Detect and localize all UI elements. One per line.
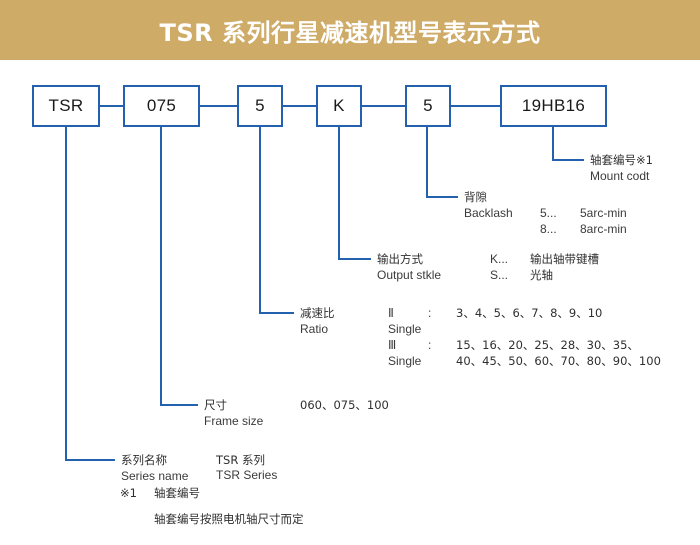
footnote-mark: ※1 [120, 480, 154, 506]
backlash-values: 5... 5arc-min 8... 8arc-min [540, 205, 627, 237]
annotation-output-style: 输出方式 Output stkle [377, 251, 441, 283]
series-name-label-cn: 系列名称 [121, 452, 188, 468]
leader-frame-size [161, 127, 198, 405]
footnote: ※1轴套编号 轴套编号按照电机轴尺寸而定 [120, 480, 304, 532]
footnote-line-1: ※1轴套编号 [120, 480, 304, 506]
ratio-values: Ⅱ : 3、4、5、6、7、8、9、10 Single Ⅲ : 15、16、20… [388, 305, 661, 369]
backlash-key-0: 5... [540, 205, 580, 221]
ratio-sep-0: : [428, 305, 456, 321]
ratio-list-1-cont: 40、45、50、60、70、80、90、100 [456, 353, 661, 369]
ratio-value-row: Single [388, 321, 661, 337]
ratio-stage-en-0: Single [388, 321, 428, 337]
output-style-label-cn: 输出方式 [377, 251, 441, 267]
output-style-value-row: K... 输出轴带键槽 [490, 251, 599, 267]
output-style-value-1: 光轴 [530, 267, 553, 283]
backlash-value-row: 8... 8arc-min [540, 221, 627, 237]
header-band: TSR 系列行星减速机型号表示方式 [0, 0, 700, 60]
series-name-values: TSR 系列 TSR Series [216, 452, 277, 482]
code-box-mount-code[interactable]: 19HB16 [500, 85, 607, 127]
leader-mount-code [553, 127, 584, 160]
backlash-value-0: 5arc-min [580, 205, 627, 221]
series-name-value-cn: TSR 系列 [216, 452, 277, 468]
ratio-value-row: Single 40、45、50、60、70、80、90、100 [388, 353, 661, 369]
ratio-list-0: 3、4、5、6、7、8、9、10 [456, 305, 602, 321]
ratio-stage-en-1: Single [388, 353, 428, 369]
page-title: TSR 系列行星减速机型号表示方式 [160, 13, 541, 48]
model-code-diagram: TSR 075 5 K 5 19HB16 轴套编号※1 Mount codt 背… [0, 60, 700, 545]
code-box-frame-size[interactable]: 075 [123, 85, 200, 127]
leader-output-style [339, 127, 371, 259]
ratio-label-en: Ratio [300, 321, 335, 337]
frame-size-list: 060、075、100 [300, 397, 389, 413]
ratio-value-row: Ⅱ : 3、4、5、6、7、8、9、10 [388, 305, 661, 321]
ratio-stage-1: Ⅲ [388, 337, 428, 353]
code-box-ratio[interactable]: 5 [237, 85, 283, 127]
mount-code-label-en: Mount codt [590, 168, 653, 184]
ratio-label-cn: 减速比 [300, 305, 335, 321]
output-style-values: K... 输出轴带键槽 S... 光轴 [490, 251, 599, 283]
annotation-mount-code: 轴套编号※1 Mount codt [590, 152, 653, 184]
leader-ratio [260, 127, 294, 313]
output-style-value-0: 输出轴带键槽 [530, 251, 599, 267]
leader-lines [0, 60, 700, 545]
code-box-output-style[interactable]: K [316, 85, 362, 127]
output-style-label-en: Output stkle [377, 267, 441, 283]
backlash-label-en: Backlash [464, 205, 513, 221]
backlash-value-row: 5... 5arc-min [540, 205, 627, 221]
annotation-ratio: 减速比 Ratio [300, 305, 335, 337]
output-style-key-0: K... [490, 251, 530, 267]
footnote-text-2: 轴套编号按照电机轴尺寸而定 [154, 512, 304, 526]
ratio-value-row: Ⅲ : 15、16、20、25、28、30、35、 [388, 337, 661, 353]
code-box-backlash[interactable]: 5 [405, 85, 451, 127]
backlash-label-cn: 背隙 [464, 189, 513, 205]
frame-size-label-en: Frame size [204, 413, 263, 429]
annotation-backlash: 背隙 Backlash [464, 189, 513, 221]
code-box-series[interactable]: TSR [32, 85, 100, 127]
mount-code-label-cn: 轴套编号※1 [590, 152, 653, 168]
ratio-sep-1: : [428, 337, 456, 353]
backlash-value-1: 8arc-min [580, 221, 627, 237]
frame-size-values: 060、075、100 [300, 397, 389, 413]
leader-backlash [427, 127, 458, 197]
output-style-key-1: S... [490, 267, 530, 283]
ratio-stage-0: Ⅱ [388, 305, 428, 321]
footnote-line-2: 轴套编号按照电机轴尺寸而定 [120, 506, 304, 532]
output-style-value-row: S... 光轴 [490, 267, 599, 283]
footnote-text-1: 轴套编号 [154, 486, 200, 500]
leader-series [66, 127, 115, 460]
ratio-list-1: 15、16、20、25、28、30、35、 [456, 337, 639, 353]
frame-size-label-cn: 尺寸 [204, 397, 263, 413]
annotation-frame-size: 尺寸 Frame size [204, 397, 263, 429]
backlash-key-1: 8... [540, 221, 580, 237]
